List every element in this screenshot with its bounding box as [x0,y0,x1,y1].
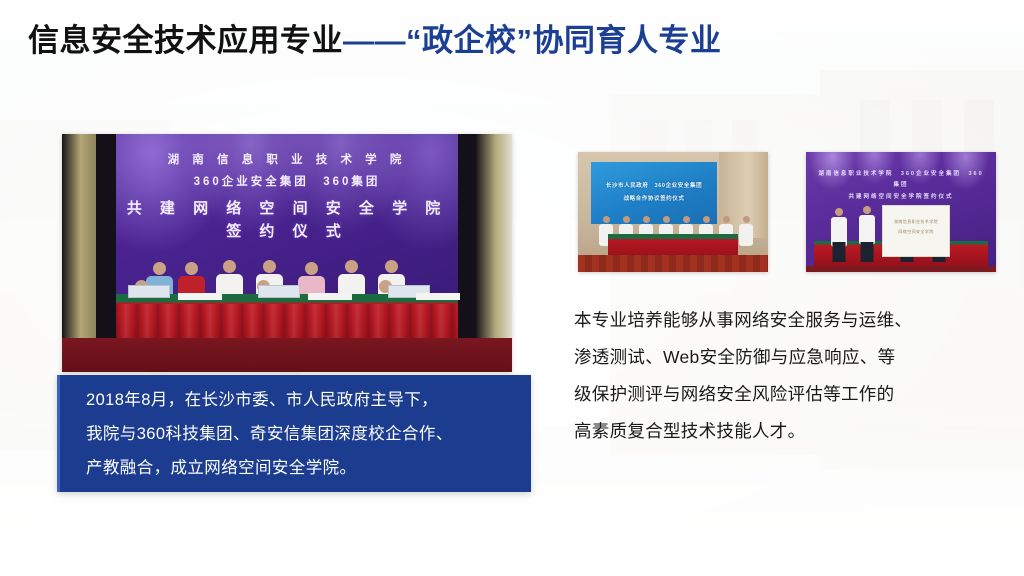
caption-line-1: 2018年8月，在长沙市委、市人民政府主导下， [60,375,531,417]
paragraph-line-3: 级保护测评与网络安全风险评估等工作的 [574,376,994,413]
photo3-backdrop-line-1: 湖南信息职业技术学院 360企业安全集团 360集团 [817,169,984,192]
plaque-unveiling-photo: 湖南信息职业技术学院 360企业安全集团 360集团 共建网络空间安全学院签约仪… [806,152,996,272]
government-signing-photo: 长沙市人民政府 360企业安全集团 战略合作协议签约仪式 [578,152,768,272]
page-title-accent: ——“政企校”协同育人专业 [343,23,722,58]
page-title: 信息安全技术应用专业——“政企校”协同育人专业 [28,20,722,62]
signing-ceremony-photo: 湖 南 信 息 职 业 技 术 学 院 360企业安全集团 360集团 共 建 … [62,134,512,372]
banner-line-1: 湖 南 信 息 职 业 技 术 学 院 [116,152,458,170]
photo3-plaque-line-2: 网络空间安全学院 [883,227,949,237]
page-title-primary: 信息安全技术应用专业 [28,23,343,58]
paragraph-line-1: 本专业培养能够从事网络安全服务与运维、 [574,302,994,339]
photo3-plaque: 湖南信息职业技术学院 网络空间安全学院 [882,205,950,257]
banner-line-2: 360企业安全集团 360集团 [116,174,458,192]
caption-box: 2018年8月，在长沙市委、市人民政府主导下， 我院与360科技集团、奇安信集团… [57,375,531,492]
photo3-plaque-line-1: 湖南信息职业技术学院 [883,217,949,227]
slide-canvas: 信息安全技术应用专业——“政企校”协同育人专业 湖 南 信 息 职 业 技 术 … [0,0,1024,576]
slide-footer: SCHOOL ENROLLMENT BROCHURE [0,524,1024,576]
program-description: 本专业培养能够从事网络安全服务与运维、 渗透测试、Web安全防御与应急响应、等 … [574,302,994,450]
paragraph-line-2: 渗透测试、Web安全防御与应急响应、等 [574,339,994,376]
footer-text: SCHOOL ENROLLMENT BROCHURE [375,543,648,557]
caption-line-3: 产教融合，成立网络空间安全学院。 [60,451,531,485]
footer-rule-left [239,550,359,551]
paragraph-line-4: 高素质复合型技术技能人才。 [574,413,994,450]
footer-rule-right [665,550,785,551]
photo2-screen-line-2: 战略合作协议签约仪式 [591,193,716,206]
caption-line-2: 我院与360科技集团、奇安信集团深度校企合作、 [60,417,531,451]
photo2-screen-line-1: 长沙市人民政府 360企业安全集团 [591,180,716,193]
